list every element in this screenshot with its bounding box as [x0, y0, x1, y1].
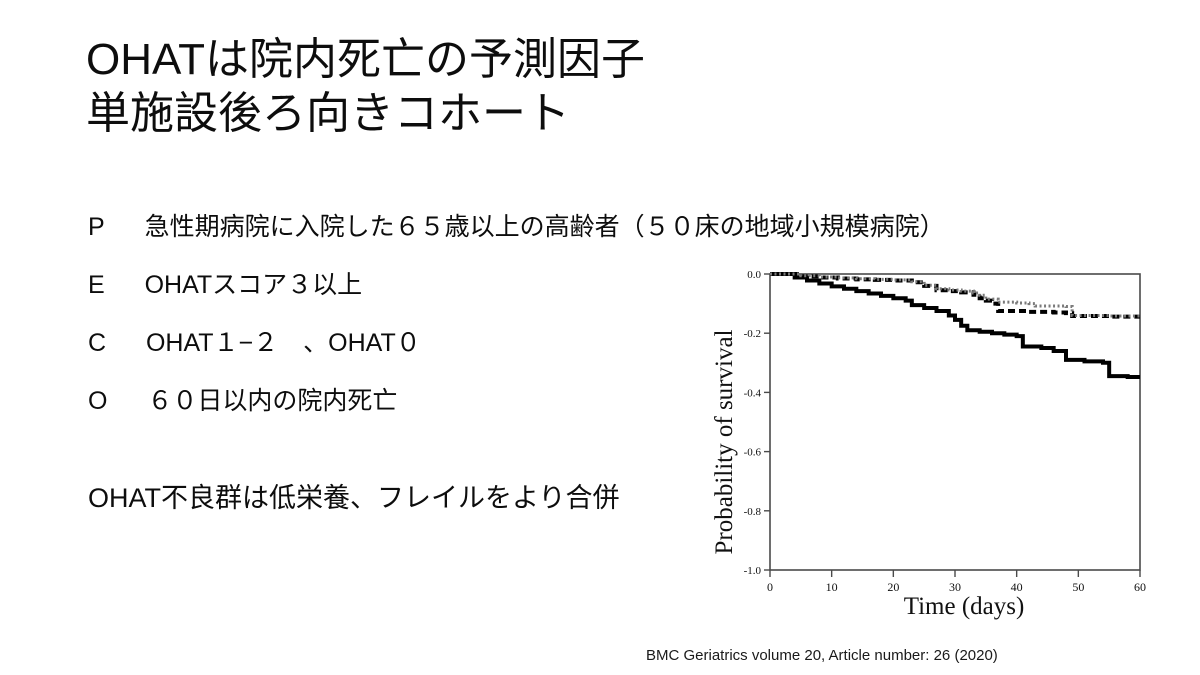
conclusion-text: OHAT不良群は低栄養、フレイルをより合併	[88, 480, 619, 516]
title-line-2: 単施設後ろ向きコホート	[86, 87, 786, 141]
x-axis-label: Time (days)	[904, 593, 1025, 620]
y-axis-label: Probability of survival	[714, 329, 738, 554]
survival-curve-figure: Probability of survival 0.0-0.2-0.4-0.6-…	[714, 262, 1152, 622]
y-axis-ticks: 0.0-0.2-0.4-0.6-0.8-1.0	[744, 269, 770, 577]
survival-curve-svg: Probability of survival 0.0-0.2-0.4-0.6-…	[714, 262, 1152, 622]
x-axis-ticks: 0102030405060	[767, 570, 1146, 594]
x-tick-label: 50	[1072, 580, 1084, 594]
x-tick-label: 10	[826, 580, 838, 594]
chart-series-group	[770, 274, 1140, 377]
y-tick-label: -1.0	[744, 565, 762, 577]
peco-key-c: C	[88, 314, 106, 372]
y-tick-label: -0.8	[744, 506, 762, 518]
citation-text: BMC Geriatrics volume 20, Article number…	[646, 646, 998, 666]
survival-curve-dotted	[770, 274, 1140, 316]
y-tick-label: -0.4	[744, 387, 762, 399]
x-tick-label: 60	[1134, 580, 1146, 594]
x-tick-label: 20	[887, 580, 899, 594]
peco-text-c: OHAT１−２ 、OHAT０	[146, 314, 421, 372]
peco-text-o: ６０日以内の院内死亡	[147, 372, 397, 430]
title-line-1: OHATは院内死亡の予測因子	[86, 33, 786, 87]
x-tick-label: 40	[1011, 580, 1023, 594]
y-tick-label: -0.6	[744, 447, 762, 459]
page-title: OHATは院内死亡の予測因子 単施設後ろ向きコホート	[86, 33, 786, 141]
x-tick-label: 30	[949, 580, 961, 594]
y-tick-label: 0.0	[747, 269, 761, 281]
peco-key-o: O	[88, 372, 107, 430]
peco-row-p: P 急性期病院に入院した６５歳以上の高齢者（５０床の地域小規模病院）	[88, 198, 1148, 256]
peco-key-p: P	[88, 198, 105, 256]
survival-curve-dashed	[770, 274, 1140, 317]
peco-key-e: E	[88, 256, 105, 314]
x-tick-label: 0	[767, 580, 773, 594]
peco-text-p: 急性期病院に入院した６５歳以上の高齢者（５０床の地域小規模病院）	[145, 198, 945, 256]
y-tick-label: -0.2	[744, 328, 761, 340]
slide-canvas: OHATは院内死亡の予測因子 単施設後ろ向きコホート P 急性期病院に入院した６…	[0, 0, 1200, 675]
peco-text-e: OHATスコア３以上	[145, 256, 363, 314]
